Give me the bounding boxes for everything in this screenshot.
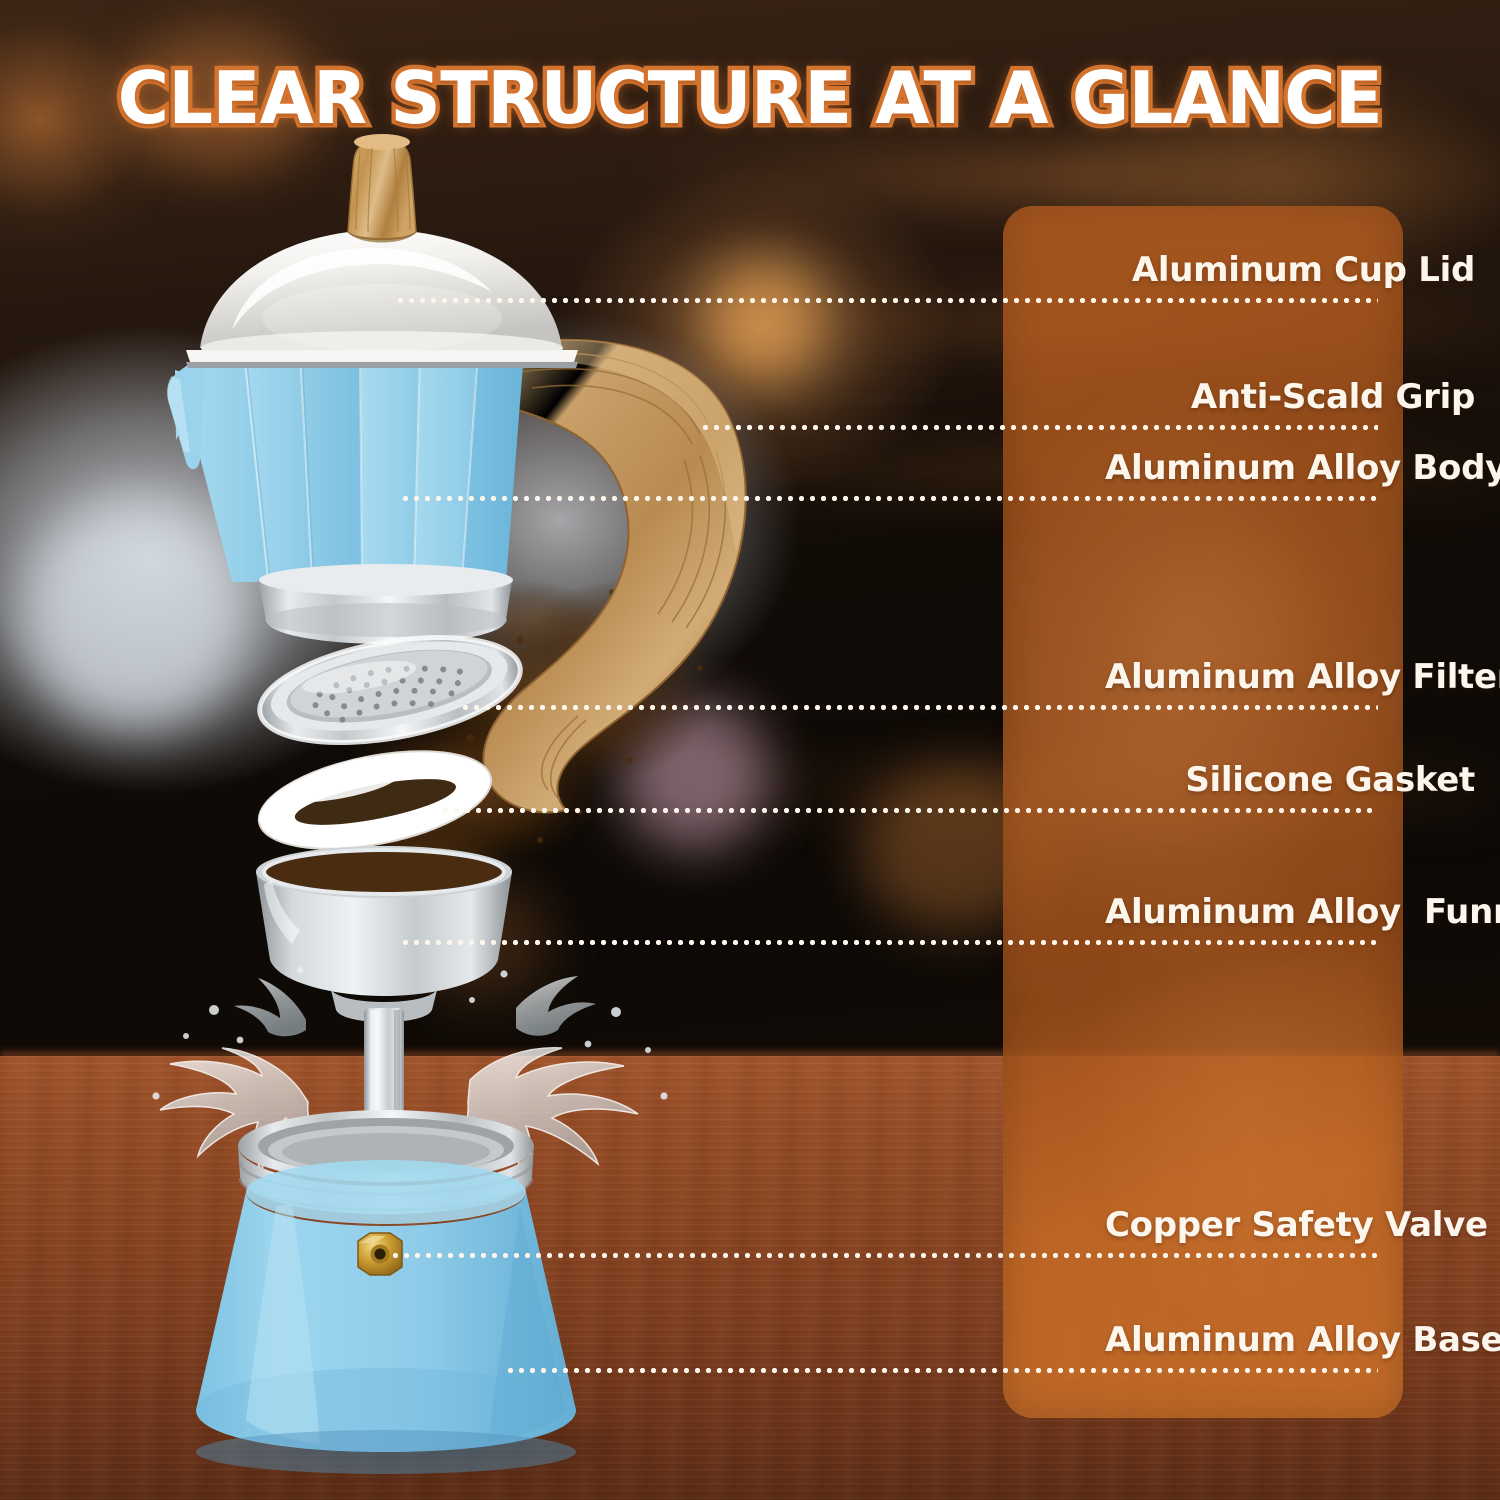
aluminum-alloy-body: [167, 350, 524, 582]
moka-pot-illustration: [0, 0, 1000, 1500]
callout-label-alloy-filter: Aluminum Alloy Filter: [1105, 657, 1475, 697]
callout-label-cup-lid: Aluminum Cup Lid: [1105, 250, 1475, 290]
callout-label-anti-scald-grip: Anti-Scald Grip: [1105, 377, 1475, 417]
callout-label-safety-valve: Copper Safety Valve: [1105, 1205, 1475, 1245]
callout-label-alloy-base: Aluminum Alloy Base: [1105, 1320, 1475, 1360]
callout-label-alloy-funnel: Aluminum Alloy Funnel: [1105, 892, 1475, 932]
body-chrome-collar: [258, 564, 513, 644]
infographic-canvas: CLEAR STRUCTURE AT A GLANCE: [0, 0, 1500, 1500]
wood-lid-knob: [348, 134, 416, 243]
aluminum-cup-lid: [186, 230, 578, 368]
copper-safety-valve[interactable]: [358, 1233, 402, 1275]
aluminum-alloy-base: [196, 1110, 576, 1474]
callout-label-silicone-gasket: Silicone Gasket: [1105, 760, 1475, 800]
callout-label-alloy-body: Aluminum Alloy Body: [1105, 448, 1475, 488]
